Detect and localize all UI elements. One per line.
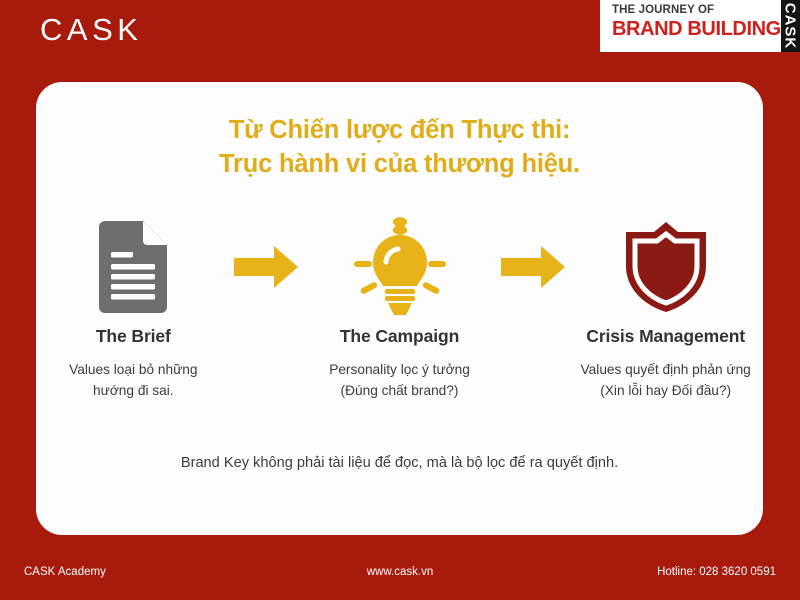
page-header: CASK THE JOURNEY OF BRAND BUILDING CASK [0,0,800,82]
page-title: Từ Chiến lược đến Thực thi: Trục hành vi… [36,114,763,182]
step-3-description: Values quyết định phản ứng (Xin lỗi hay … [581,360,751,402]
step-2-icon-container [354,212,446,322]
step-2-title: The Campaign [340,326,459,347]
step-2-description: Personality lọc ý tưởng (Đúng chất brand… [329,360,470,402]
badge-tagline: THE JOURNEY OF [612,5,781,17]
step-1-icon-container [95,212,171,322]
step-the-brief: The Brief Values loại bỏ những hướng đi … [36,212,231,402]
step-1-description: Values loại bỏ những hướng đi sai. [69,360,197,402]
step-crisis-management: Crisis Management Values quyết định phản… [568,212,763,402]
badge-vertical-strip: CASK [781,0,800,52]
lightbulb-icon [354,217,446,317]
arrow-right-icon [234,246,298,288]
steps-row: The Brief Values loại bỏ những hướng đi … [36,212,763,402]
arrow-right-icon [501,246,565,288]
page-footer: CASK Academy www.cask.vn Hotline: 028 36… [0,535,800,600]
badge-strip-label: CASK [782,3,799,50]
page-title-line1: Từ Chiến lược đến Thực thi: [36,114,763,148]
step-3-icon-container [624,212,708,322]
shield-icon [624,220,708,314]
arrow-1-container [231,212,303,322]
step-1-title: The Brief [96,326,171,347]
step-3-title: Crisis Management [586,326,745,347]
content-card: Từ Chiến lược đến Thực thi: Trục hành vi… [36,82,763,535]
page-title-line2: Trục hành vi của thương hiệu. [36,148,763,182]
step-the-campaign: The Campaign Personality lọc ý tưởng (Đú… [302,212,497,402]
badge-text-block: THE JOURNEY OF BRAND BUILDING [600,0,781,52]
badge-title: BRAND BUILDING [612,19,781,39]
journey-of-brand-building-badge: THE JOURNEY OF BRAND BUILDING CASK [600,0,800,52]
footer-hotline: Hotline: 028 3620 0591 [657,566,776,578]
cask-logo: CASK [40,12,142,48]
arrow-2-container [497,212,569,322]
footnote-text: Brand Key không phải tài liệu để đọc, mà… [36,455,763,471]
document-icon [95,221,171,313]
